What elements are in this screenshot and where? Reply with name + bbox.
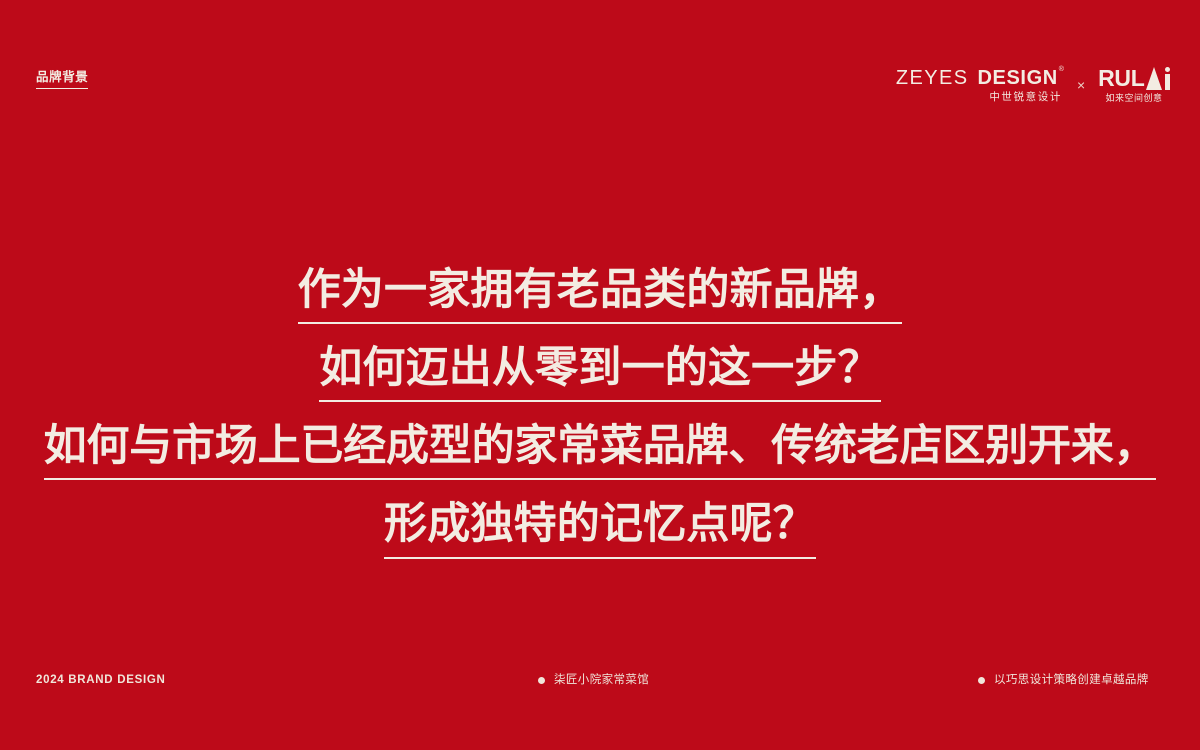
- rulai-logo-letters: RUL: [1098, 67, 1144, 90]
- logo-separator-x-icon: ×: [1075, 78, 1087, 92]
- rulai-i-dot: [1165, 67, 1170, 72]
- rulai-i-stem: [1165, 74, 1170, 90]
- zeyes-logo-light-word: ZEYES: [896, 68, 969, 88]
- rulai-logo-dotted-i-icon: [1165, 67, 1170, 90]
- bullet-dot-icon: [978, 677, 985, 684]
- logo-lockup: ZEYES DESIGN ® 中世锐意设计 × RUL 如来空间创意: [896, 63, 1170, 107]
- headline-line-text: 如何迈出从零到一的这一步？: [319, 346, 881, 402]
- headline-line: 如何与市场上已经成型的家常菜品牌、传统老店区别开来，: [0, 424, 1200, 480]
- footer-copyright: 2024 BRAND DESIGN: [36, 675, 166, 687]
- headline-line: 作为一家拥有老品类的新品牌，: [0, 268, 1200, 324]
- footer-brand-name: 柒匠小院家常菜馆: [538, 675, 649, 687]
- footer-tagline-text: 以巧思设计策略创建卓越品牌: [994, 675, 1149, 687]
- zeyes-logo-subtitle: 中世锐意设计: [989, 92, 1062, 103]
- headline-line-text: 作为一家拥有老品类的新品牌，: [298, 268, 903, 324]
- headline-line: 如何迈出从零到一的这一步？: [0, 346, 1200, 402]
- slide-header: 品牌背景 ZEYES DESIGN ® 中世锐意设计 × RUL: [0, 0, 1200, 120]
- rulai-logo-wordmark: RUL: [1098, 67, 1170, 90]
- zeyes-logo-bold-word: DESIGN: [977, 68, 1057, 88]
- footer-tagline: 以巧思设计策略创建卓越品牌: [978, 675, 1149, 687]
- zeyes-design-logo: ZEYES DESIGN ® 中世锐意设计: [896, 68, 1064, 103]
- headline-block: 作为一家拥有老品类的新品牌， 如何迈出从零到一的这一步？ 如何与市场上已经成型的…: [0, 268, 1200, 559]
- headline-line-text: 如何与市场上已经成型的家常菜品牌、传统老店区别开来，: [44, 424, 1157, 480]
- rulai-logo-subtitle: 如来空间创意: [1106, 94, 1163, 103]
- bullet-dot-icon: [538, 677, 545, 684]
- footer-brand-name-text: 柒匠小院家常菜馆: [554, 675, 649, 687]
- slide-footer: 2024 BRAND DESIGN 柒匠小院家常菜馆 以巧思设计策略创建卓越品牌: [0, 655, 1200, 750]
- headline-line-text: 形成独特的记忆点呢？: [384, 502, 816, 558]
- zeyes-logo-wordmark: ZEYES DESIGN ®: [896, 68, 1064, 88]
- rulai-logo-triangle-a-icon: [1146, 67, 1163, 90]
- headline-line: 形成独特的记忆点呢？: [0, 502, 1200, 558]
- rulai-logo: RUL 如来空间创意: [1098, 67, 1170, 103]
- presentation-slide: 品牌背景 ZEYES DESIGN ® 中世锐意设计 × RUL: [0, 0, 1200, 750]
- registered-trademark-icon: ®: [1059, 66, 1064, 73]
- section-label: 品牌背景: [36, 71, 88, 89]
